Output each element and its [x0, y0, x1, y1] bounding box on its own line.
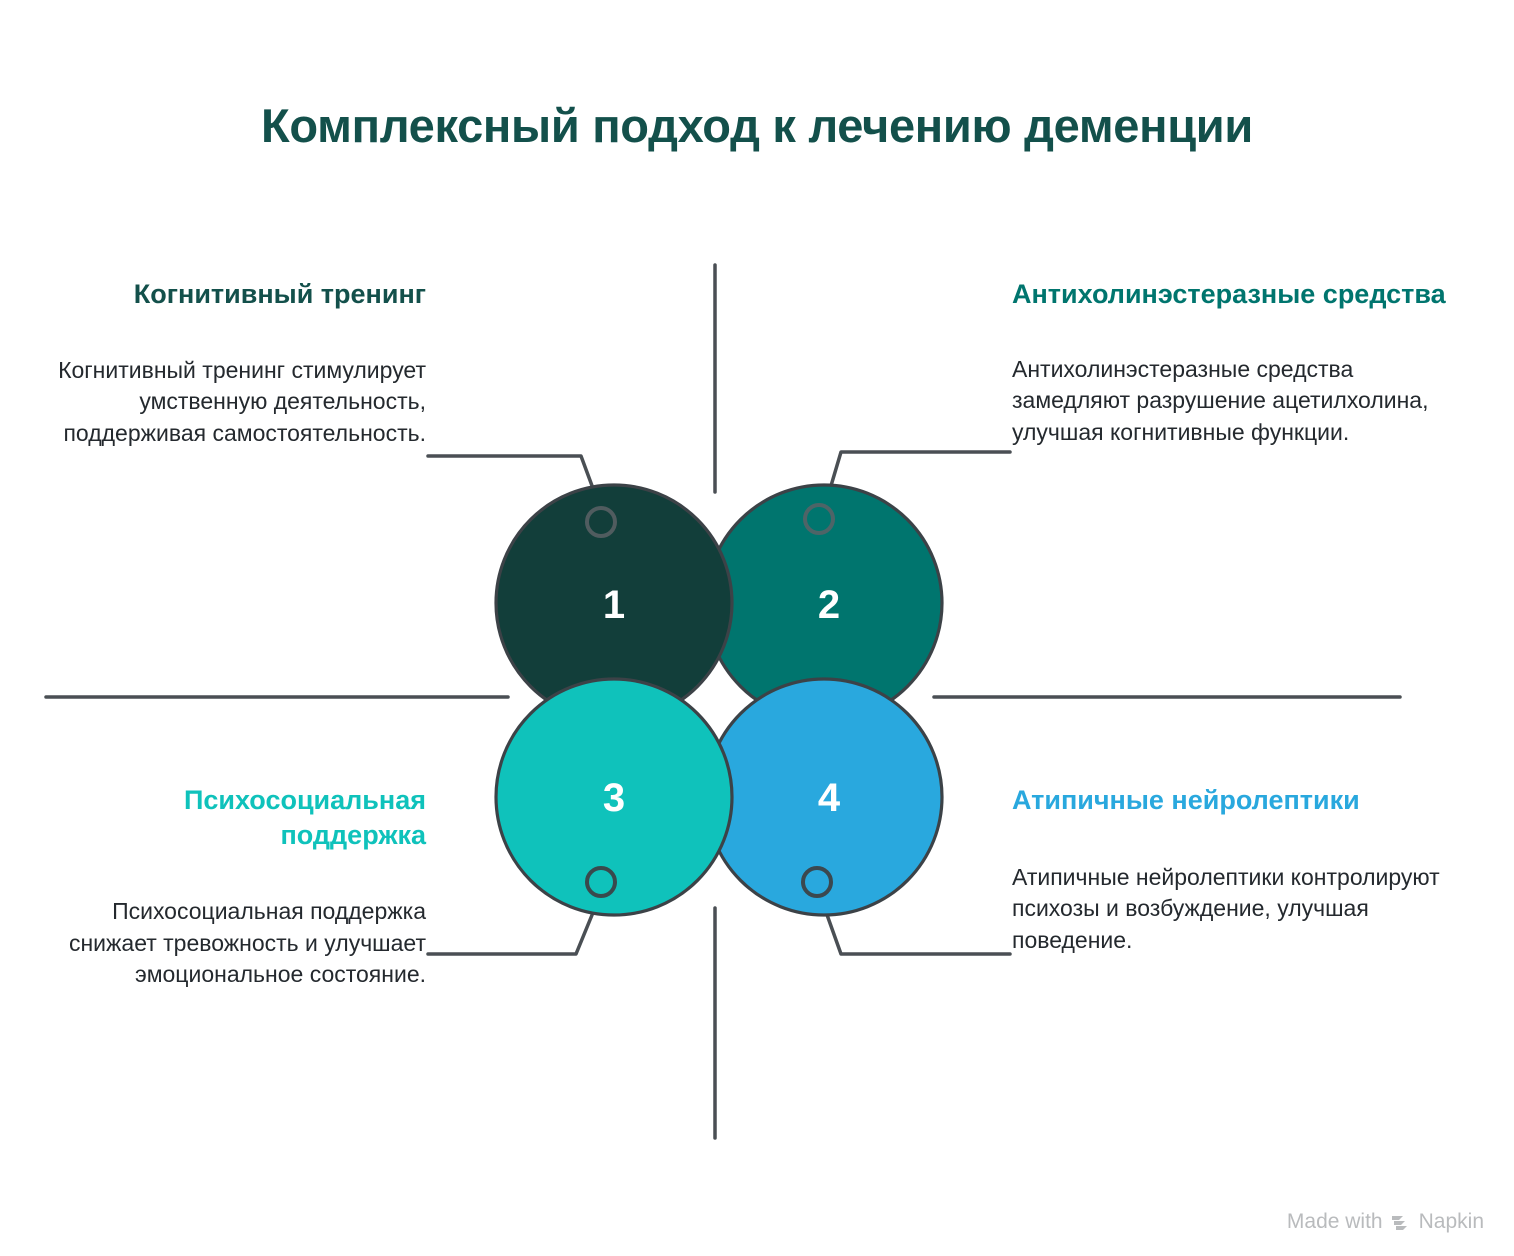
venn-number-4: 4	[818, 776, 841, 820]
infographic-canvas: Комплексный подход к лечению деменции	[0, 0, 1514, 1256]
quadrant-block-2: Антихолинэстеразные средства Антихолинэс…	[1012, 277, 1454, 448]
quadrant-heading-1: Когнитивный тренинг	[58, 277, 426, 312]
quadrant-block-4: Атипичные нейролептики Атипичные нейроле…	[1012, 783, 1454, 956]
venn-diagram: 1 2 3 4	[0, 0, 1514, 1256]
quadrant-block-3: Психосоциальная поддержка Психосоциальна…	[58, 783, 426, 991]
venn-number-3: 3	[603, 776, 625, 820]
napkin-chevrons-icon	[1390, 1213, 1412, 1231]
watermark-brand: Napkin	[1419, 1210, 1484, 1234]
quadrant-heading-3: Психосоциальная поддержка	[58, 783, 426, 852]
watermark-prefix: Made with	[1287, 1210, 1383, 1234]
venn-number-1: 1	[603, 583, 625, 627]
watermark: Made with Napkin	[1287, 1210, 1484, 1234]
quadrant-body-3: Психосоциальная поддержка снижает тревож…	[58, 896, 426, 991]
quadrant-heading-2: Антихолинэстеразные средства	[1012, 277, 1454, 312]
venn-number-2: 2	[818, 583, 840, 627]
quadrant-body-4: Атипичные нейролептики контролируют псих…	[1012, 862, 1454, 957]
quadrant-body-2: Антихолинэстеразные средства замедляют р…	[1012, 354, 1454, 449]
quadrant-heading-4: Атипичные нейролептики	[1012, 783, 1454, 818]
quadrant-block-1: Когнитивный тренинг Когнитивный тренинг …	[58, 277, 426, 449]
quadrant-body-1: Когнитивный тренинг стимулирует умственн…	[58, 355, 426, 450]
